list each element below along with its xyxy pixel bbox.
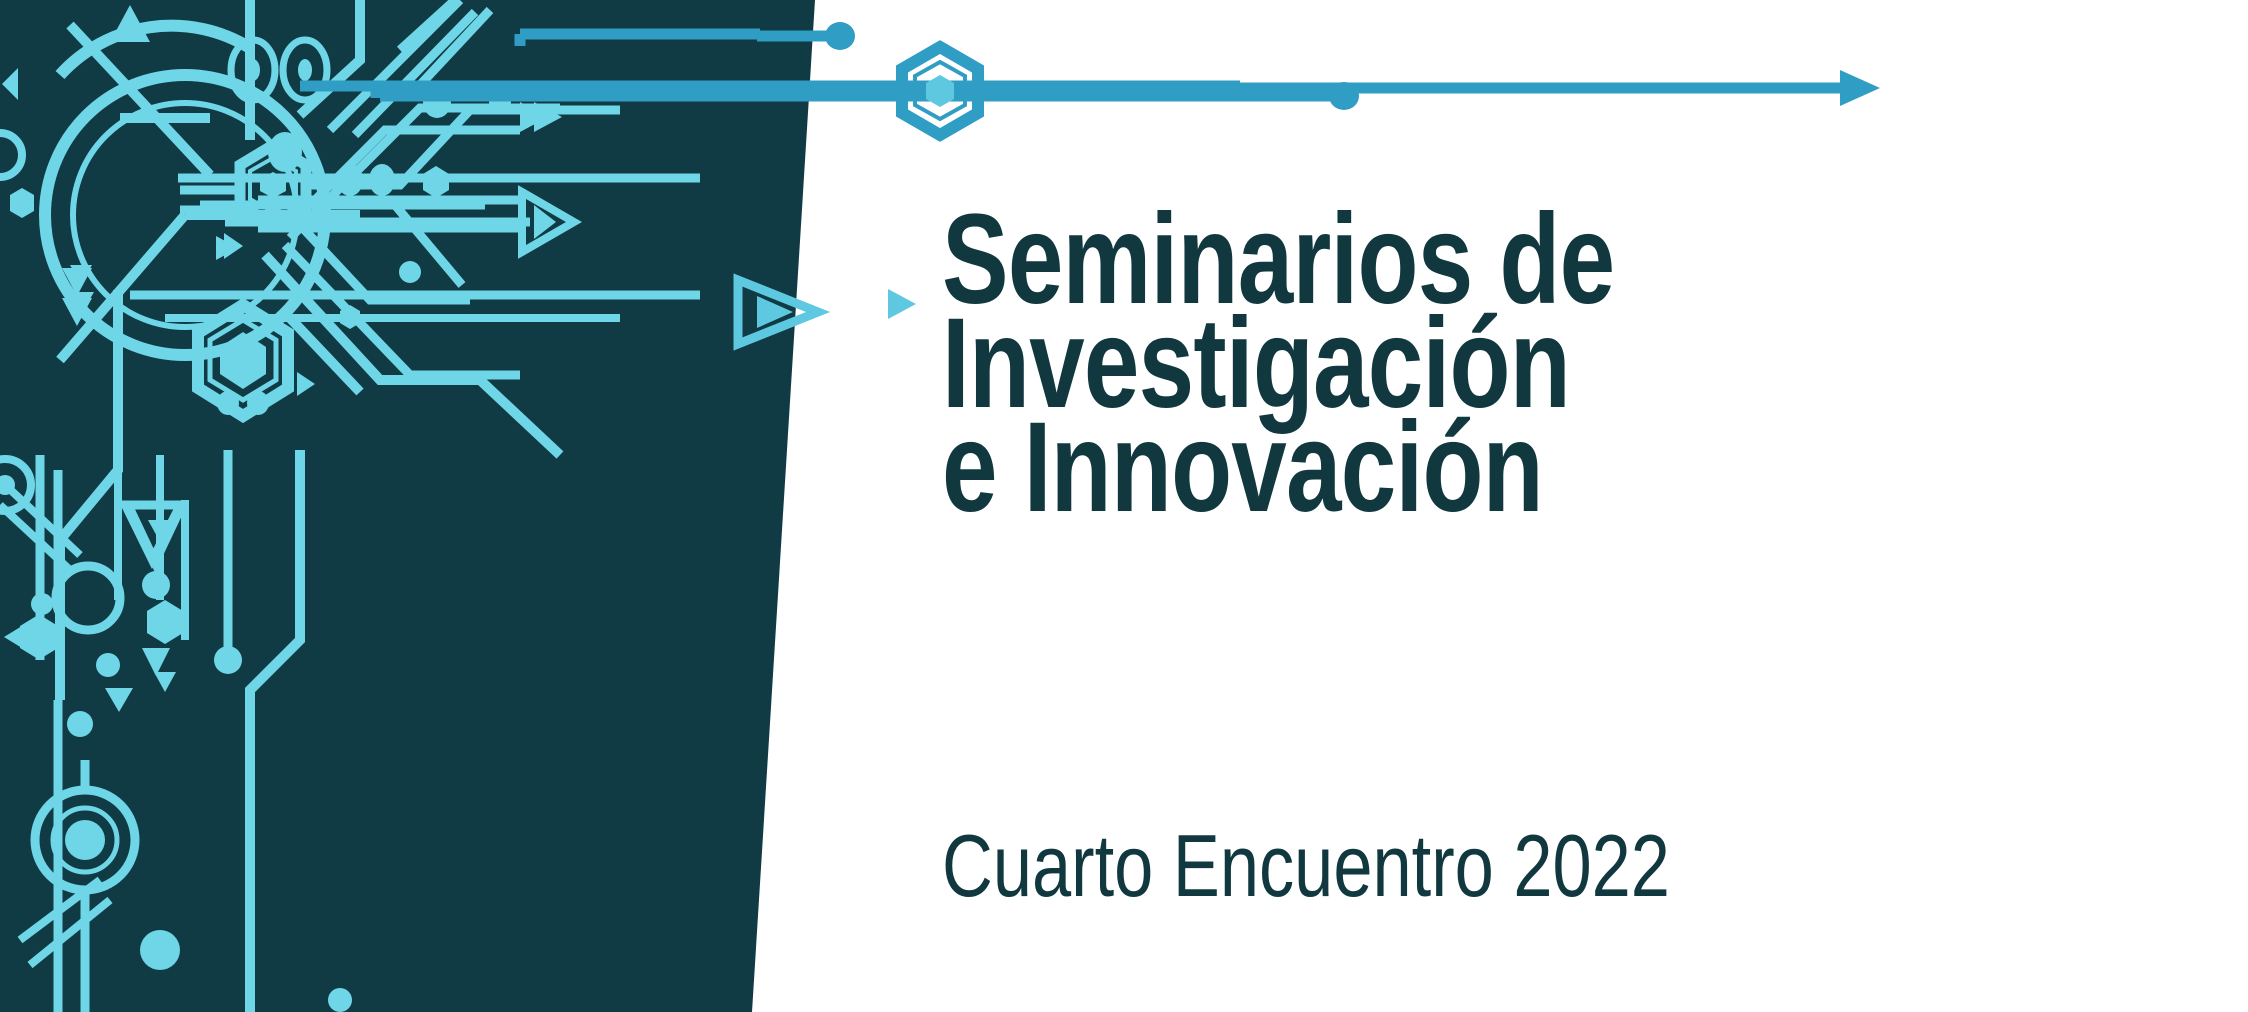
play-triangle-icon — [888, 289, 916, 319]
arrowhead-icon — [1840, 70, 1880, 106]
circuit-decoration-artwork — [0, 0, 2248, 1012]
seminar-banner: Seminarios de Investigación e Innovación… — [0, 0, 2248, 1012]
hexagon-node — [902, 47, 978, 135]
